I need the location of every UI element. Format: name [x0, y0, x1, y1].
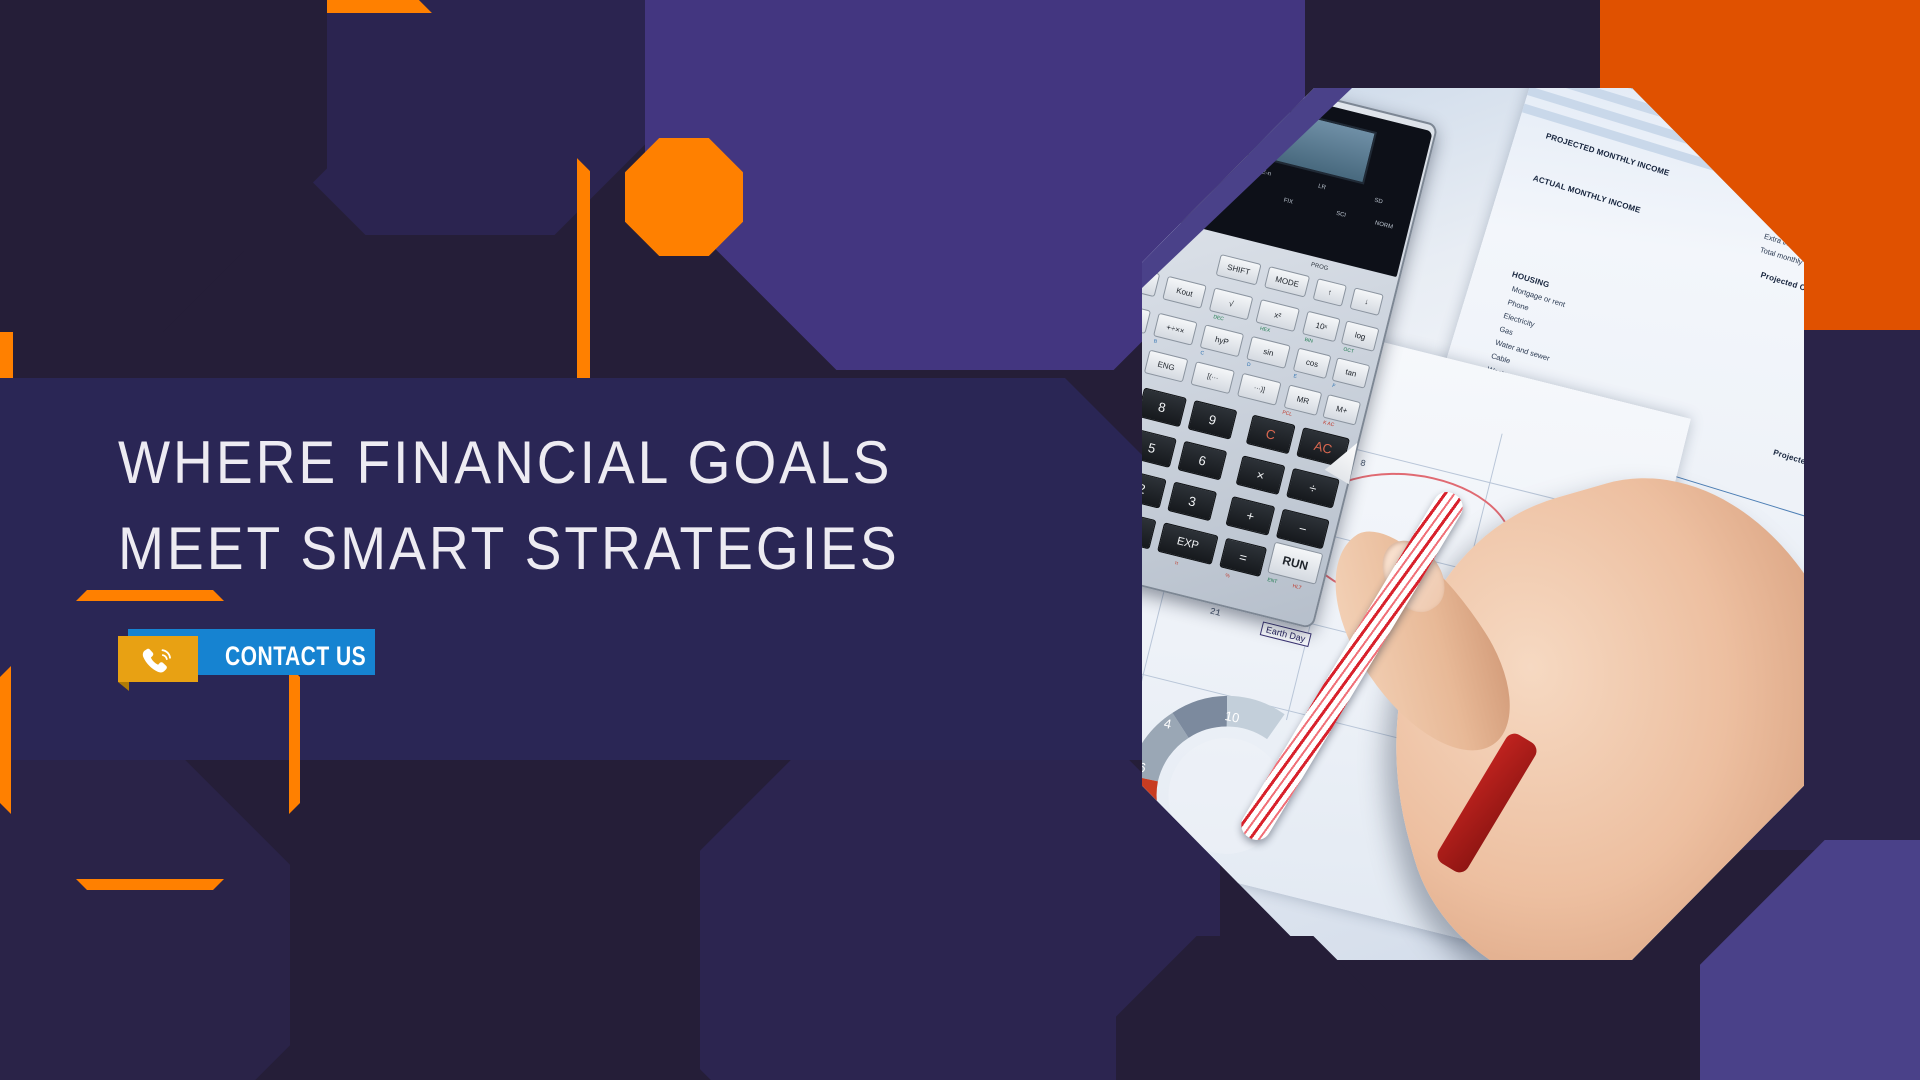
phone-icon: [140, 647, 176, 673]
worksheet-section-actual: ACTUAL MONTHLY INCOME: [1532, 174, 1642, 215]
hero-photo-image: Personal Monthly PROJECTED MONTHLY INCOM…: [1142, 88, 1804, 960]
calendar-number-2: 8: [1359, 458, 1367, 469]
calendar-number-5: 21: [1209, 606, 1222, 618]
hero-banner: Personal Monthly PROJECTED MONTHLY INCOM…: [0, 0, 1920, 1080]
worksheet-housing-row-1: Phone: [1507, 298, 1530, 313]
hero-photo: Personal Monthly PROJECTED MONTHLY INCOM…: [1142, 88, 1804, 960]
worksheet-housing-row-5: Cable: [1490, 351, 1511, 365]
worksheet-col-header-2: Projected Cost: [1772, 448, 1804, 474]
worksheet-housing-row-3: Gas: [1498, 324, 1514, 337]
page-title: WHERE FINANCIAL GOALS MEET SMART STRATEG…: [118, 420, 946, 592]
donut-label-3: 10: [1224, 708, 1241, 726]
contact-button-label: CONTACT US: [225, 641, 366, 672]
headline-line-1: WHERE FINANCIAL GOALS: [118, 420, 946, 506]
decorative-octagon-orange-small: [625, 138, 743, 256]
decorative-octagon-purple-bottom-right: [1700, 840, 1920, 1080]
worksheet-col-header: Projected Cost: [1760, 270, 1804, 296]
headline-line-2: MEET SMART STRATEGIES: [118, 506, 946, 592]
